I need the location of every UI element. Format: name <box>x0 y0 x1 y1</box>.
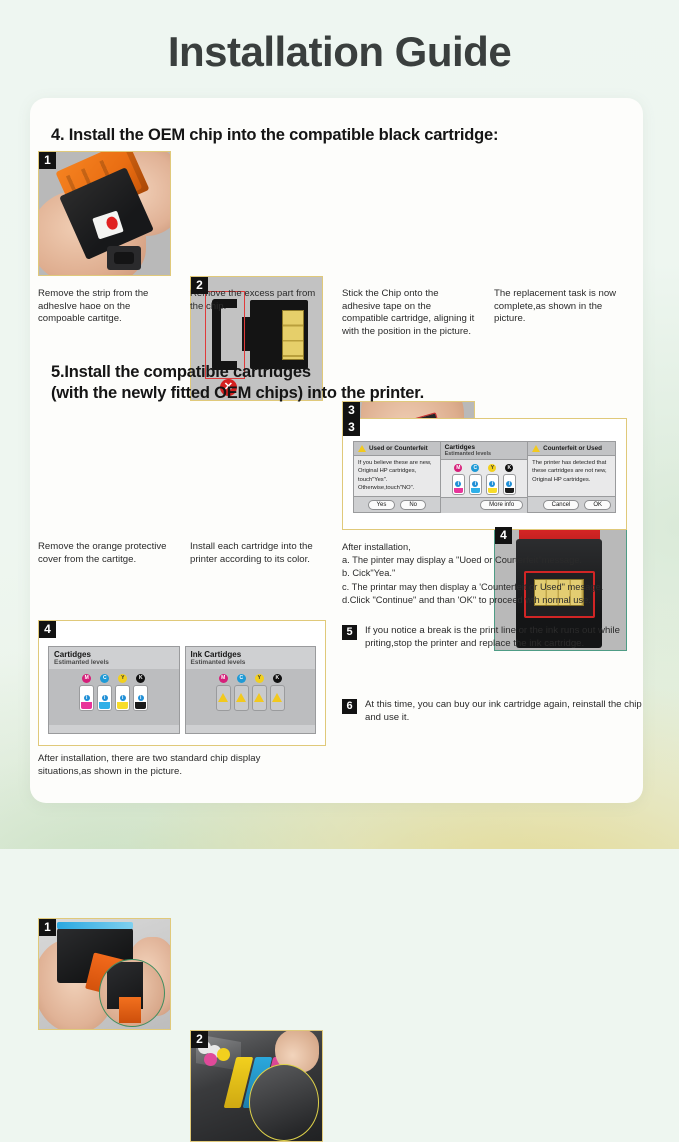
after-installation-line-c: c. The printar may then display a 'Count… <box>342 581 642 594</box>
display-ink-cartridges: Ink Cartidges Estimanted levels M C <box>185 646 317 734</box>
dialog-right-title: Counterfeit or Used <box>543 445 602 452</box>
step-5-text: If you notice a break is the print line … <box>365 625 642 651</box>
ink-tank: i <box>133 685 148 711</box>
ink-level-row: M i C i Y i K i <box>51 672 177 711</box>
ink-dot-label: K <box>136 674 145 683</box>
dialog-mid-body: M i C i Y i K i <box>441 460 528 497</box>
dialog-mid-footer: More info <box>441 497 528 513</box>
figure-4-2-number: 2 <box>191 277 208 294</box>
ink-level-cyan: C <box>234 674 249 711</box>
figure-4-3-caption: Stick the Chip onto the adhesive tape on… <box>342 288 478 339</box>
ink-tank <box>234 685 249 711</box>
ink-level-black: K <box>270 674 285 711</box>
ink-level-cyan: C i <box>469 464 482 495</box>
figure-5-2-number: 2 <box>191 1031 208 1048</box>
ink-level-yellow: Y i <box>486 464 499 495</box>
no-button[interactable]: No <box>400 500 426 510</box>
ink-dot-label: C <box>237 674 246 683</box>
section-4-heading: 4. Install the OEM chip into the compati… <box>51 125 631 146</box>
ink-dot-label: M <box>454 464 462 472</box>
dialog-used-or-counterfeit: Used or Counterfeit If you believe these… <box>353 441 441 513</box>
figure-5-4-number: 4 <box>39 621 56 638</box>
ink-dot-label: Y <box>255 674 264 683</box>
warning-triangle-icon <box>218 693 228 702</box>
more-info-button[interactable]: More info <box>480 500 523 510</box>
step-6: 6 At this time, you can buy our ink cart… <box>342 699 642 725</box>
step-5: 5 If you notice a break is the print lin… <box>342 625 642 651</box>
step-6-number: 6 <box>342 699 357 714</box>
warning-triangle-icon <box>358 445 366 452</box>
display-right-subtitle: Estimanted levels <box>191 659 311 666</box>
dialog-right-titlebar: Counterfeit or Used <box>528 442 615 456</box>
figure-5-2: 2 <box>190 1030 323 1142</box>
ink-level-row: M i C i Y i K i <box>443 462 526 495</box>
figure-5-1-art <box>39 919 170 1029</box>
figure-5-1: 1 <box>38 918 171 1030</box>
figure-5-3-number: 3 <box>343 419 360 436</box>
section-5-heading: 5.Install the compatible cartridges (wit… <box>51 362 631 403</box>
ink-level-magenta: M i <box>452 464 465 495</box>
figure-4-4-number: 4 <box>495 527 512 544</box>
dialog-left-footer: Yes No <box>354 496 440 512</box>
dialog-cartridge-levels: Cartidges Estimanted levels M i C i <box>441 441 529 513</box>
section-5-heading-line1: 5.Install the compatible cartridges <box>51 362 631 383</box>
warning-triangle-icon <box>272 693 282 702</box>
after-installation-intro: After installation, <box>342 541 642 554</box>
ink-tank: i <box>452 474 465 495</box>
figure-4-1-art <box>39 152 170 275</box>
figure-4-4-caption: The replacement task is now complete,as … <box>494 288 626 326</box>
yes-button[interactable]: Yes <box>368 500 396 510</box>
ink-level-magenta: M <box>216 674 231 711</box>
dialog-counterfeit-or-used: Counterfeit or Used The printer has dete… <box>528 441 616 513</box>
figure-5-3: 3 Used or Counterfeit If you believe the… <box>342 418 627 530</box>
dialog-right-body: The printer has detected that these cart… <box>528 456 615 496</box>
ink-tank: i <box>503 474 516 495</box>
after-installation-paragraph: After installation, a. The pinter may di… <box>342 541 642 607</box>
after-installation-line-b: b. Cick"Yea." <box>342 567 642 580</box>
ink-dot-label: Y <box>488 464 496 472</box>
step-6-text: At this time, you can buy our ink cartri… <box>365 699 642 725</box>
after-installation-line-a: a. The pinter may display a "Uoed or Cou… <box>342 554 642 567</box>
page-title: Installation Guide <box>0 28 679 76</box>
ink-tank <box>252 685 267 711</box>
figure-5-2-caption: Install each cartridge into the printer … <box>190 541 326 566</box>
figure-5-2-art <box>191 1031 322 1141</box>
ink-tank: i <box>97 685 112 711</box>
display-right-title: Ink Cartidges <box>191 650 311 659</box>
ink-tank: i <box>115 685 130 711</box>
ink-level-yellow: Y i <box>115 674 130 711</box>
ink-level-black: K i <box>133 674 148 711</box>
ink-dot-label: C <box>471 464 479 472</box>
ink-dot-label: K <box>505 464 513 472</box>
figure-5-4: 4 Cartidges Estimanted levels M i C <box>38 620 326 746</box>
ink-level-row: M C Y K <box>188 672 314 711</box>
ink-level-black: K i <box>503 464 516 495</box>
after-installation-line-d: d.Click "Continue" and than 'OK" to proc… <box>342 594 642 607</box>
ok-button[interactable]: OK <box>584 500 611 510</box>
ink-level-cyan: C i <box>97 674 112 711</box>
dialog-mid-title: Cartidges <box>445 444 524 451</box>
figure-4-2-caption: Remove the excess part from the chip. <box>190 288 322 313</box>
display-cartridges: Cartidges Estimanted levels M i C i <box>48 646 180 734</box>
warning-triangle-icon <box>236 693 246 702</box>
display-left-body: M i C i Y i K i <box>49 669 179 725</box>
warning-triangle-icon <box>254 693 264 702</box>
dialog-mid-titlebar: Cartidges Estimanted levels <box>441 442 528 460</box>
content-card: 4. Install the OEM chip into the compati… <box>30 98 643 803</box>
step-5-number: 5 <box>342 625 357 640</box>
ink-dot-label: C <box>100 674 109 683</box>
display-right-body: M C Y K <box>186 669 316 725</box>
ink-dot-label: Y <box>118 674 127 683</box>
display-left-titlebar: Cartidges Estimanted levels <box>49 647 179 669</box>
figure-5-4-caption: After installation, there are two standa… <box>38 753 308 778</box>
figure-4-1: 1 <box>38 151 171 276</box>
ink-dot-label: K <box>273 674 282 683</box>
figure-4-1-number: 1 <box>39 152 56 169</box>
dialog-left-titlebar: Used or Counterfeit <box>354 442 440 456</box>
dialog-mid-subtitle: Estimanted levels <box>445 451 524 457</box>
ink-tank: i <box>486 474 499 495</box>
figure-4-1-caption: Remove the strip from the adhesIve haoe … <box>38 288 170 326</box>
section-5-heading-line2: (with the newly fitted OEM chips) into t… <box>51 383 631 404</box>
ink-tank: i <box>469 474 482 495</box>
ink-tank: i <box>79 685 94 711</box>
ink-level-yellow: Y <box>252 674 267 711</box>
warning-triangle-icon <box>532 445 540 452</box>
ink-tank <box>216 685 231 711</box>
ink-dot-label: M <box>219 674 228 683</box>
display-right-titlebar: Ink Cartidges Estimanted levels <box>186 647 316 669</box>
ink-level-magenta: M i <box>79 674 94 711</box>
display-left-subtitle: Estimanted levels <box>54 659 174 666</box>
figure-5-1-number: 1 <box>39 919 56 936</box>
display-left-title: Cartidges <box>54 650 174 659</box>
cancel-button[interactable]: Cancel <box>543 500 580 510</box>
figure-5-1-caption: Remove the orange protective cover from … <box>38 541 174 566</box>
figure-4-3-number: 3 <box>343 402 360 419</box>
ink-tank <box>270 685 285 711</box>
dialog-right-footer: Cancel OK <box>528 496 615 512</box>
dialog-left-title: Used or Counterfeit <box>369 445 428 452</box>
ink-dot-label: M <box>82 674 91 683</box>
dialog-left-body: If you believe these are new, Original H… <box>354 456 440 496</box>
